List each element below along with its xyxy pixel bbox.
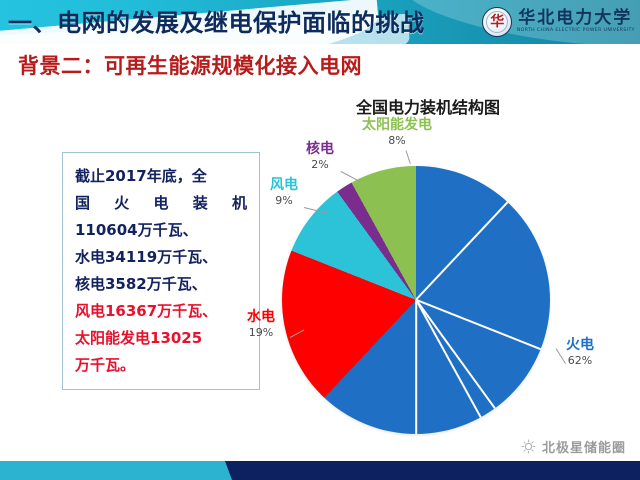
university-logo: 华 华北电力大学 NORTH CHINA ELECTRIC POWER UNIV… — [482, 2, 634, 42]
star-icon — [521, 439, 536, 454]
pie-label-solar: 太阳能发电 8% — [362, 118, 432, 146]
pie-label-thermal-value: 62% — [566, 355, 594, 367]
logo-emblem-icon: 华 — [482, 7, 512, 37]
logo-emblem-char: 华 — [490, 15, 504, 29]
pie-label-hydro-name: 水电 — [247, 310, 275, 325]
pie-label-hydro: 水电 19% — [247, 310, 275, 338]
chart-title: 全国电力装机结构图 — [356, 94, 500, 118]
footer-bar — [0, 461, 640, 480]
statistics-line: 万千瓦。 — [75, 352, 247, 379]
statistics-line: 截止2017年底，全 — [75, 163, 247, 190]
pie-label-solar-value: 8% — [362, 135, 432, 147]
pie-label-wind-value: 9% — [270, 195, 298, 207]
logo-name-en: NORTH CHINA ELECTRIC POWER UNIVERSITY — [517, 29, 635, 34]
slice-separator — [415, 300, 417, 434]
logo-name-cn: 华北电力大学 — [518, 10, 634, 27]
slide-canvas: 一、电网的发展及继电保护面临的挑战 华 华北电力大学 NORTH CHINA E… — [0, 0, 640, 480]
logo-text-block: 华北电力大学 NORTH CHINA ELECTRIC POWER UNIVER… — [518, 10, 634, 34]
statistics-line: 水电34119万千瓦、 — [75, 244, 247, 271]
footer-cyan-section — [0, 461, 232, 480]
statistics-line: 110604万千瓦、 — [75, 217, 247, 244]
pie-label-nuclear-value: 2% — [306, 159, 334, 171]
statistics-line: 国火电装机 — [75, 190, 247, 217]
watermark: 北极星储能圈 — [521, 437, 626, 456]
statistics-line: 太阳能发电13025 — [75, 325, 247, 352]
pie-label-thermal-name: 火电 — [566, 338, 594, 353]
leader-line-solar — [406, 150, 411, 164]
pie-label-solar-name: 太阳能发电 — [362, 118, 432, 133]
pie-label-nuclear: 核电 2% — [306, 142, 334, 170]
section-subtitle: 背景二：可再生能源规模化接入电网 — [18, 50, 362, 80]
pie-chart — [282, 166, 550, 434]
pie-label-hydro-value: 19% — [247, 327, 275, 339]
pie-label-wind: 风电 9% — [270, 178, 298, 206]
pie-label-wind-name: 风电 — [270, 178, 298, 193]
statistics-textbox: 截止2017年底，全国火电装机110604万千瓦、水电34119万千瓦、核电35… — [62, 152, 260, 390]
leader-line-thermal — [556, 348, 566, 364]
statistics-line: 风电16367万千瓦、 — [75, 298, 247, 325]
statistics-line: 核电3582万千瓦、 — [75, 271, 247, 298]
watermark-text: 北极星储能圈 — [542, 437, 626, 456]
page-title: 一、电网的发展及继电保护面临的挑战 — [8, 3, 425, 38]
pie-label-thermal: 火电 62% — [566, 338, 594, 366]
pie-label-nuclear-name: 核电 — [306, 142, 334, 157]
